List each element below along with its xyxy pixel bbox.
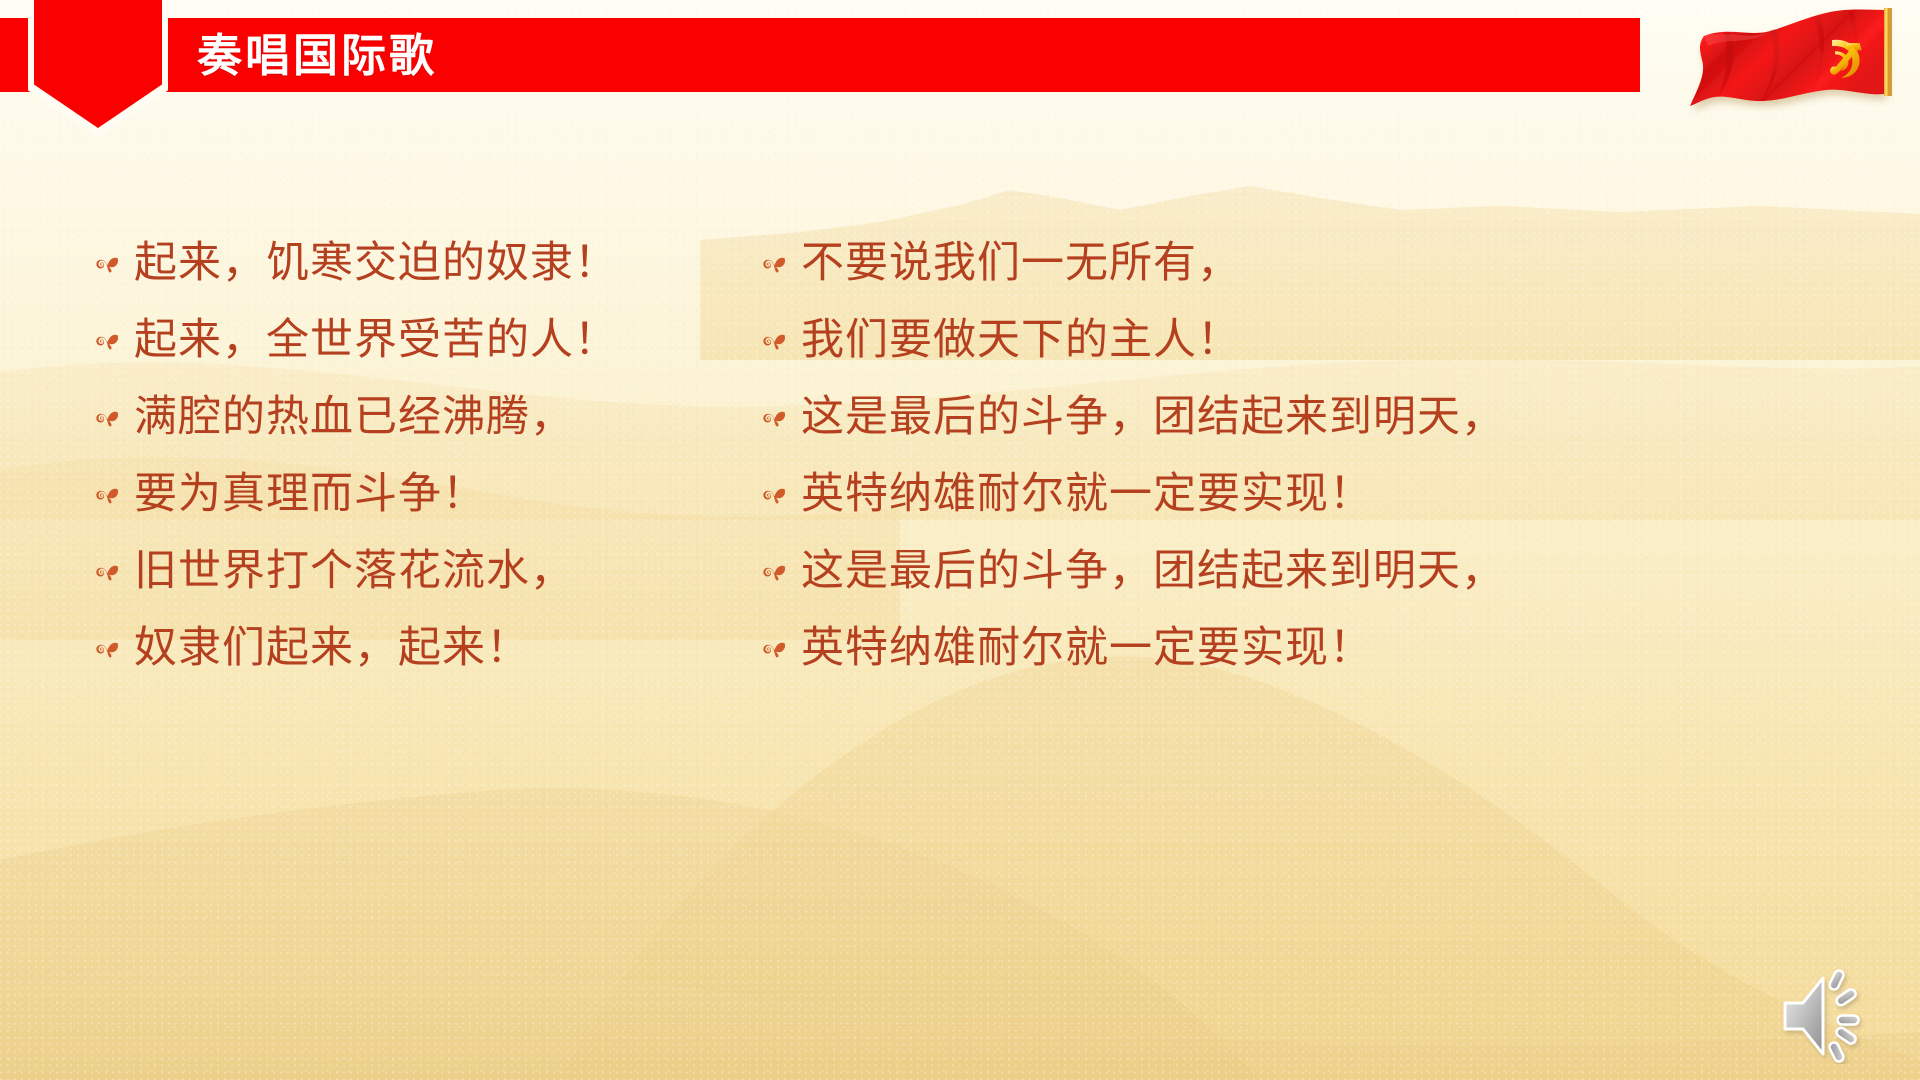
lyric-line: 起来，全世界受苦的人！ — [88, 305, 728, 377]
swirl-flourish-bullet-icon — [88, 640, 134, 664]
swirl-flourish-bullet-icon — [88, 409, 134, 433]
lyric-text: 我们要做天下的主人！ — [801, 318, 1241, 363]
lyric-text: 满腔的热血已经沸腾， — [134, 395, 574, 440]
lyric-text: 起来，饥寒交迫的奴隶！ — [134, 241, 618, 286]
lyric-line: 我们要做天下的主人！ — [755, 305, 1495, 377]
cpc-party-flag — [1688, 2, 1906, 120]
swirl-flourish-bullet-icon — [88, 486, 134, 510]
lyrics-area: 起来，饥寒交迫的奴隶！ 起来，全世界受苦的人！ 满腔的热血已经沸腾， 要为真理而… — [0, 228, 1920, 698]
swirl-flourish-bullet-icon — [88, 332, 134, 356]
lyric-line: 不要说我们一无所有， — [755, 228, 1495, 300]
page-title: 奏唱国际歌 — [197, 19, 437, 91]
lyrics-column-right: 不要说我们一无所有， 我们要做天下的主人！ 这是最后的斗争，团结起来到明天， 英… — [755, 228, 1495, 690]
lyric-text: 英特纳雄耐尔就一定要实现！ — [801, 472, 1373, 517]
swirl-flourish-bullet-icon — [755, 486, 801, 510]
badge-fill — [34, 0, 162, 128]
swirl-flourish-bullet-icon — [755, 640, 801, 664]
swirl-flourish-bullet-icon — [755, 255, 801, 279]
lyric-text: 要为真理而斗争！ — [134, 472, 486, 517]
swirl-flourish-bullet-icon — [755, 409, 801, 433]
lyric-line: 满腔的热血已经沸腾， — [88, 382, 728, 454]
lyric-line: 这是最后的斗争，团结起来到明天， — [755, 382, 1495, 454]
lyric-text: 这是最后的斗争，团结起来到明天， — [801, 395, 1505, 440]
swirl-flourish-bullet-icon — [755, 332, 801, 356]
speaker-volume-icon[interactable] — [1778, 968, 1896, 1064]
lyric-text: 奴隶们起来，起来！ — [134, 626, 530, 671]
lyric-line: 这是最后的斗争，团结起来到明天， — [755, 536, 1495, 608]
lyrics-column-left: 起来，饥寒交迫的奴隶！ 起来，全世界受苦的人！ 满腔的热血已经沸腾， 要为真理而… — [88, 228, 728, 690]
lyric-line: 英特纳雄耐尔就一定要实现！ — [755, 459, 1495, 531]
swirl-flourish-bullet-icon — [88, 255, 134, 279]
lyric-text: 这是最后的斗争，团结起来到明天， — [801, 549, 1505, 594]
lyric-text: 旧世界打个落花流水， — [134, 549, 574, 594]
lyric-line: 起来，饥寒交迫的奴隶！ — [88, 228, 728, 300]
lyric-text: 英特纳雄耐尔就一定要实现！ — [801, 626, 1373, 671]
swirl-flourish-bullet-icon — [755, 563, 801, 587]
slide-canvas: 奏唱国际歌 — [0, 0, 1920, 1080]
lyric-line: 旧世界打个落花流水， — [88, 536, 728, 608]
lyric-line: 奴隶们起来，起来！ — [88, 613, 728, 685]
swirl-flourish-bullet-icon — [88, 563, 134, 587]
lyric-line: 要为真理而斗争！ — [88, 459, 728, 531]
lyric-text: 起来，全世界受苦的人！ — [134, 318, 618, 363]
pentagon-shield-badge — [28, 0, 168, 137]
lyric-line: 英特纳雄耐尔就一定要实现！ — [755, 613, 1495, 685]
lyric-text: 不要说我们一无所有， — [801, 241, 1241, 286]
